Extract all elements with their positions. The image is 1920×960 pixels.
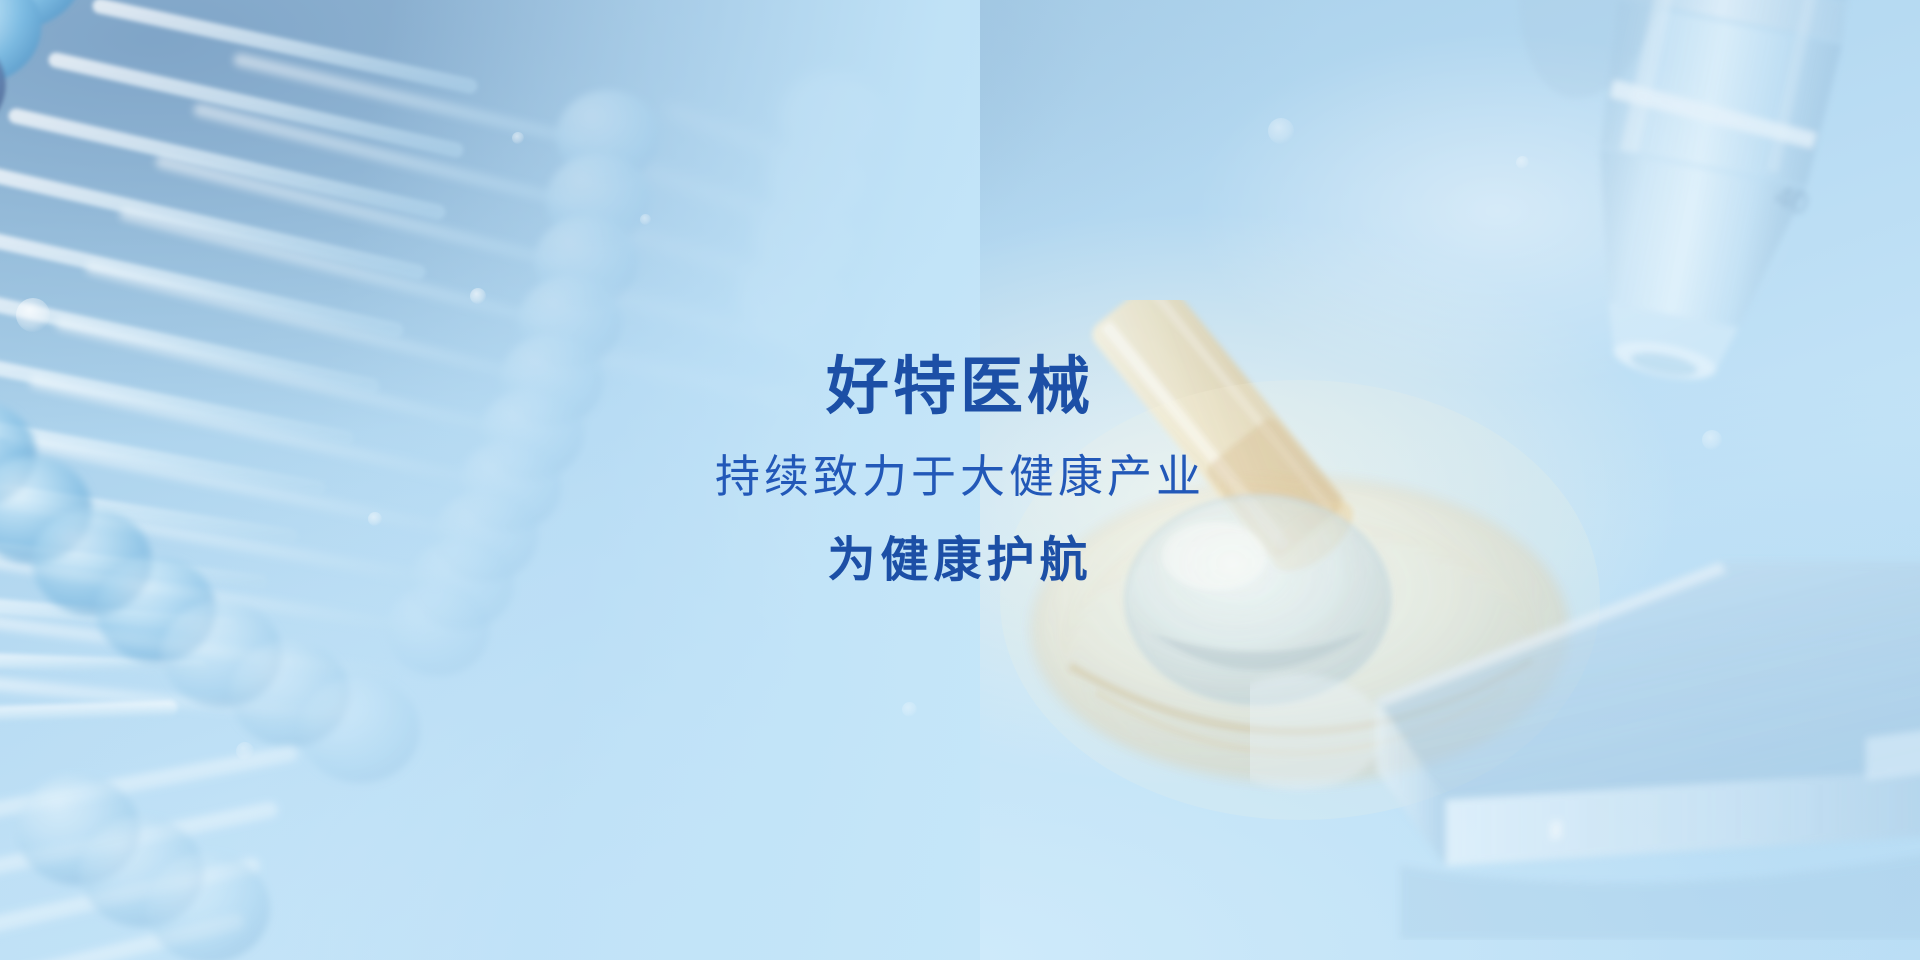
hero-subtitle: 持续致力于大健康产业 <box>0 450 1920 504</box>
hero-banner: 40 <box>0 0 1920 960</box>
hero-tagline: 为健康护航 <box>0 532 1920 590</box>
hero-text-block: 好特医械 持续致力于大健康产业 为健康护航 <box>0 352 1920 589</box>
page-title: 好特医械 <box>0 352 1920 424</box>
